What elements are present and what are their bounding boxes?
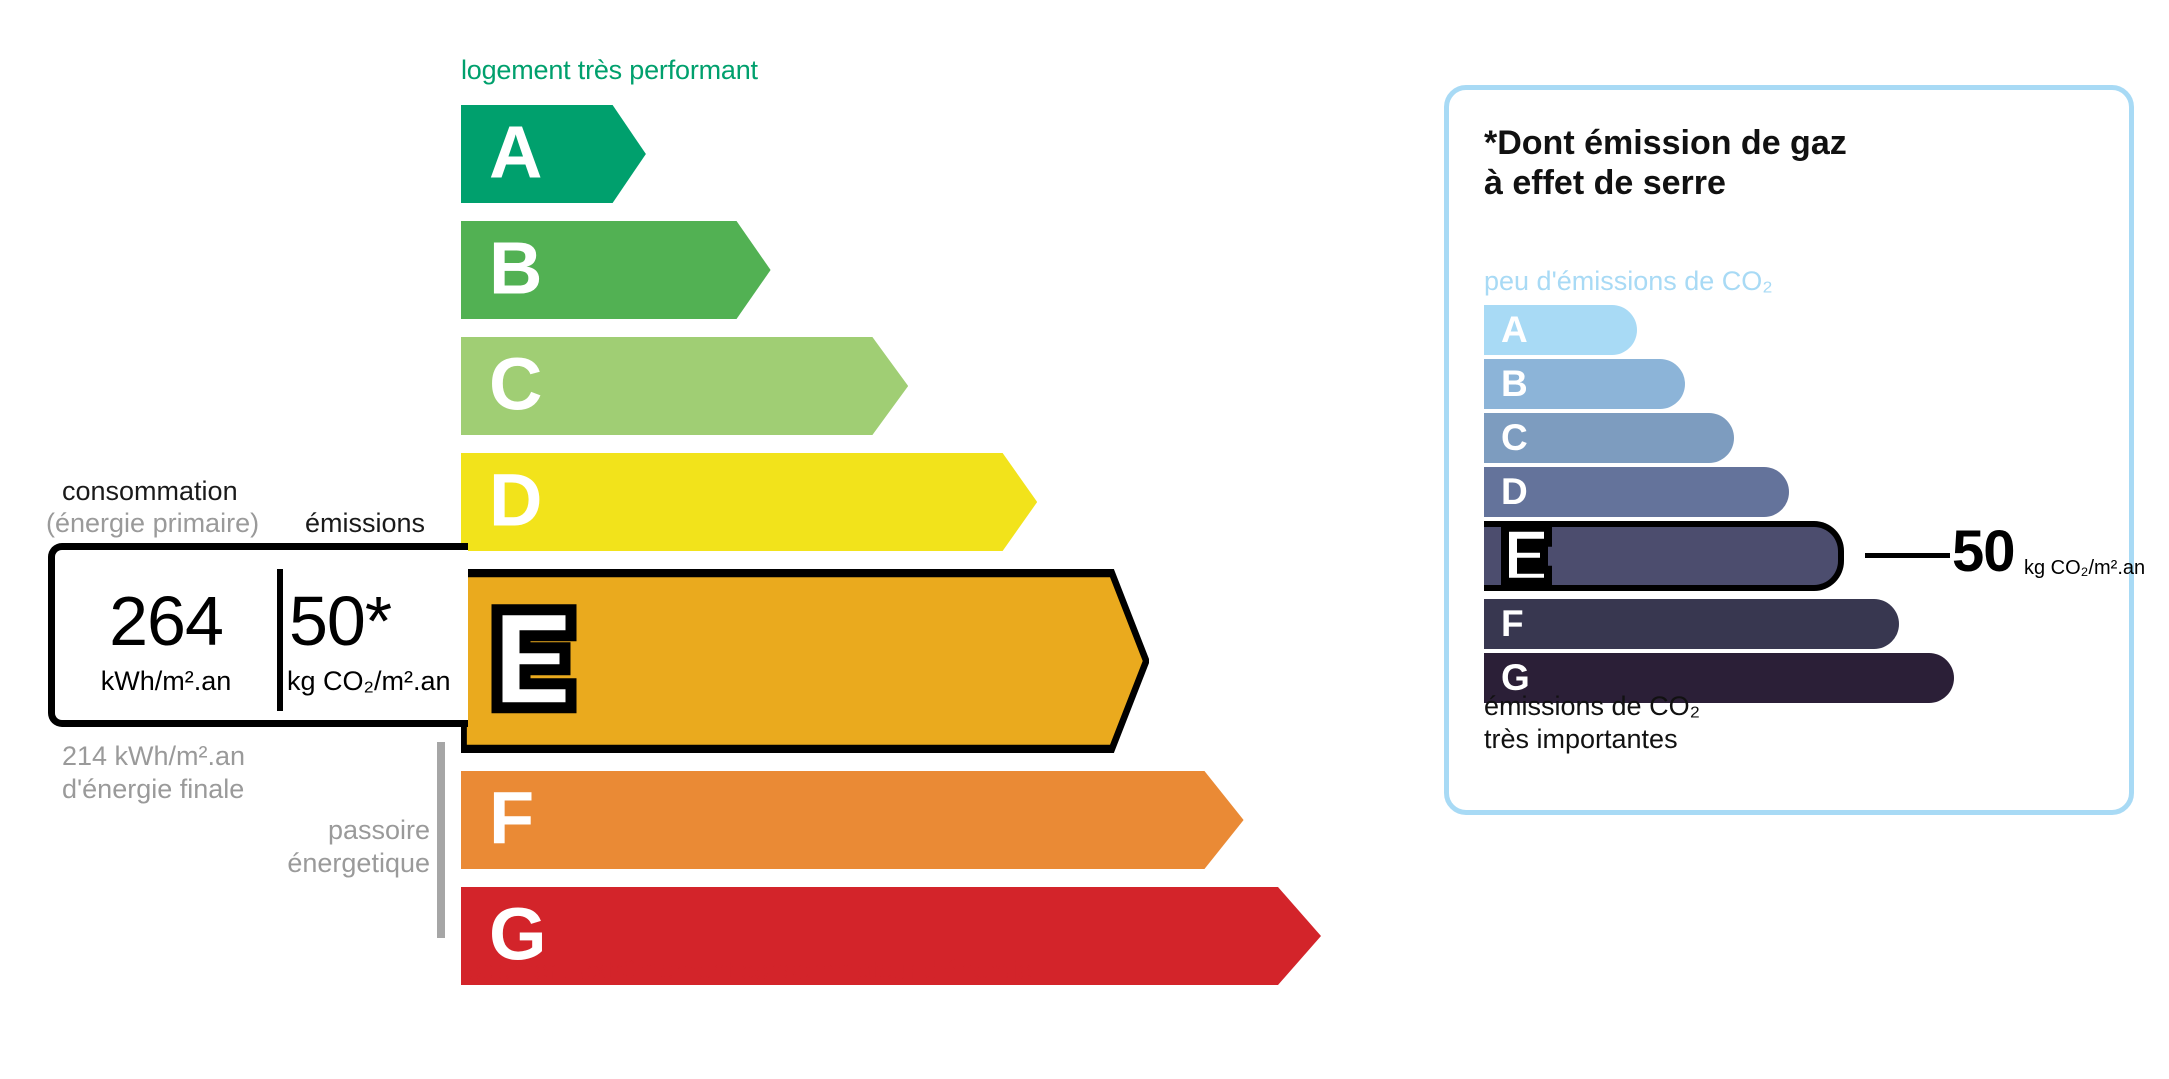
co2-bar-c: C — [1484, 413, 1734, 463]
consumption-unit: kWh/m².an — [55, 668, 277, 695]
energy-band-a: A — [461, 105, 646, 203]
co2-top-caption: peu d'émissions de CO₂ — [1484, 266, 1773, 297]
energy-band-d: D — [461, 453, 1037, 551]
value-card-consumption: 264 kWh/m².an — [55, 550, 277, 720]
emission-value: 50* — [283, 586, 463, 656]
value-card: 264 kWh/m².an 50* kg CO₂/m².an — [48, 543, 468, 727]
scale-top-caption: logement très performant — [461, 55, 758, 86]
co2-bar-letter-d: D — [1501, 473, 1528, 510]
energy-band-f: F — [461, 771, 1244, 869]
consumption-value: 264 — [55, 586, 277, 656]
dpe-diagram: logement très performant A B — [0, 0, 2169, 1079]
passoire-line-2: énergetique — [0, 847, 430, 880]
value-card-emission: 50* kg CO₂/m².an — [283, 550, 463, 720]
co2-value: 50 — [1952, 523, 2015, 581]
energy-band-list: A B C D — [461, 105, 1321, 945]
band-letter-e-outline — [491, 604, 577, 714]
emission-unit: kg CO₂/m².an — [283, 668, 463, 695]
co2-foot-line-1: émissions de CO₂ — [1484, 690, 1700, 723]
scale-bottom-caption: logement extrêmement consommateur d'éner… — [461, 955, 1032, 986]
band-letter-d: D — [489, 464, 542, 538]
co2-bar-letter-c: C — [1501, 419, 1528, 456]
co2-bar-a: A — [1484, 305, 1637, 355]
band-arrow-shape-f — [461, 771, 1244, 869]
passoire-line-1: passoire — [0, 814, 430, 847]
co2-bar-letter-b: B — [1501, 365, 1528, 402]
label-consumption: consommation — [62, 476, 238, 507]
energy-band-b: B — [461, 221, 771, 319]
band-letter-g: G — [489, 898, 547, 972]
co2-bar-letter-e-outline — [1500, 523, 1552, 587]
final-energy-note: 214 kWh/m².an d'énergie finale — [62, 740, 245, 806]
band-letter-b: B — [489, 232, 542, 306]
co2-foot-line-2: très importantes — [1484, 723, 1700, 756]
co2-bar-letter-a: A — [1501, 311, 1528, 348]
co2-bar-d: D — [1484, 467, 1789, 517]
energy-band-e — [461, 569, 1149, 753]
label-consumption-sub: (énergie primaire) — [46, 508, 259, 539]
final-energy-line-2: d'énergie finale — [62, 773, 245, 806]
co2-leader-line — [1865, 553, 1950, 558]
band-letter-c: C — [489, 348, 542, 422]
co2-bar-e — [1484, 521, 1844, 591]
co2-bar-letter-f: F — [1501, 605, 1524, 642]
co2-bar-b: B — [1484, 359, 1685, 409]
energy-scale: logement très performant A B — [0, 0, 1330, 1079]
co2-bar-list: A B C D F G — [1484, 305, 2094, 685]
co2-foot-caption: émissions de CO₂ très importantes — [1484, 690, 1700, 756]
energy-band-c: C — [461, 337, 908, 435]
co2-title-line-1: *Dont émission de gaz — [1484, 123, 1847, 163]
value-card-labels: consommation (énergie primaire) émission… — [0, 476, 470, 536]
passoire-label: passoire énergetique — [0, 814, 430, 880]
final-energy-line-1: 214 kWh/m².an — [62, 740, 245, 773]
band-arrow-shape-d — [461, 453, 1037, 551]
band-letter-a: A — [489, 116, 542, 190]
co2-panel-title: *Dont émission de gaz à effet de serre — [1484, 123, 1847, 203]
band-letter-f: F — [489, 782, 534, 856]
label-emissions: émissions — [305, 508, 425, 539]
co2-bar-f: F — [1484, 599, 1899, 649]
co2-title-line-2: à effet de serre — [1484, 163, 1847, 203]
passoire-bracket — [437, 742, 445, 938]
co2-panel: *Dont émission de gaz à effet de serre p… — [1444, 85, 2134, 815]
co2-value-unit: kg CO₂/m².an — [2024, 558, 2145, 578]
